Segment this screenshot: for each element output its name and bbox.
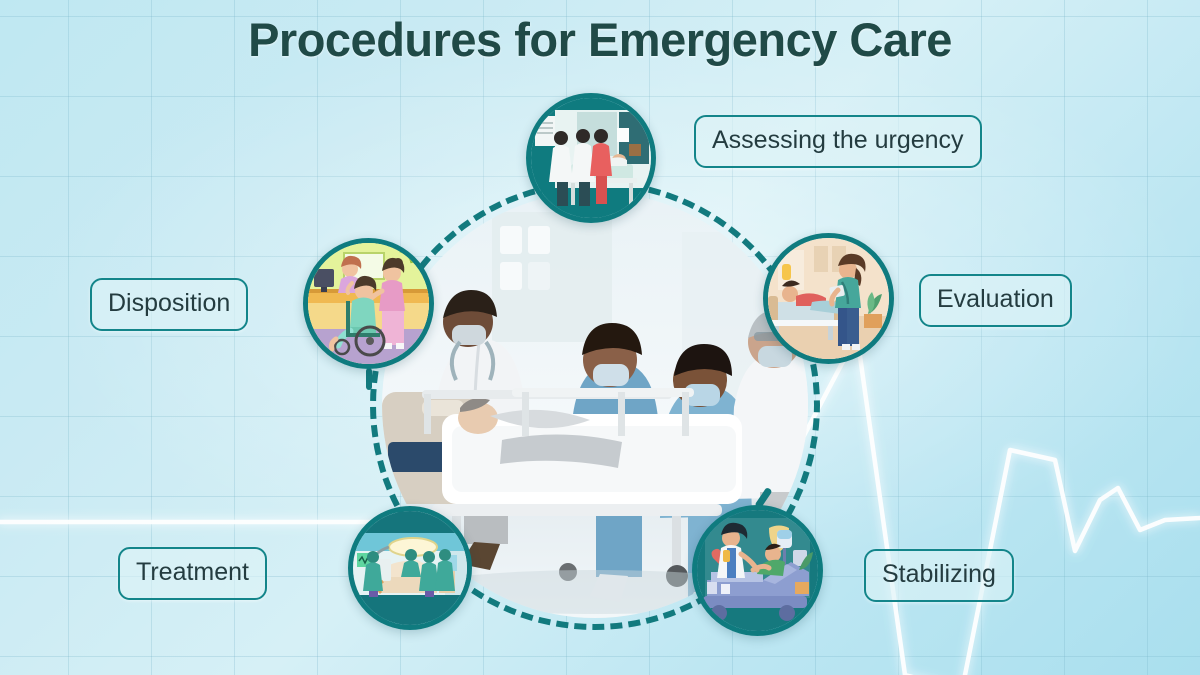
page-title: Procedures for Emergency Care bbox=[0, 12, 1200, 67]
node-evaluation[interactable] bbox=[763, 233, 894, 364]
nurse-clipboard-icon bbox=[768, 238, 889, 359]
node-assessing-the-urgency[interactable] bbox=[526, 93, 656, 223]
triage-team-icon bbox=[531, 98, 651, 218]
label-assessing-the-urgency[interactable]: Assessing the urgency bbox=[694, 115, 982, 168]
node-stabilizing[interactable] bbox=[692, 505, 823, 636]
stem-disposition bbox=[366, 368, 372, 390]
label-evaluation[interactable]: Evaluation bbox=[919, 274, 1072, 327]
node-disposition[interactable] bbox=[303, 238, 434, 369]
label-disposition[interactable]: Disposition bbox=[90, 278, 248, 331]
operating-room-icon bbox=[353, 511, 467, 625]
label-stabilizing[interactable]: Stabilizing bbox=[864, 549, 1014, 602]
label-treatment[interactable]: Treatment bbox=[118, 547, 267, 600]
node-treatment[interactable] bbox=[348, 506, 472, 630]
iv-drip-bed-icon bbox=[697, 510, 818, 631]
wheelchair-discharge-icon bbox=[308, 243, 429, 364]
